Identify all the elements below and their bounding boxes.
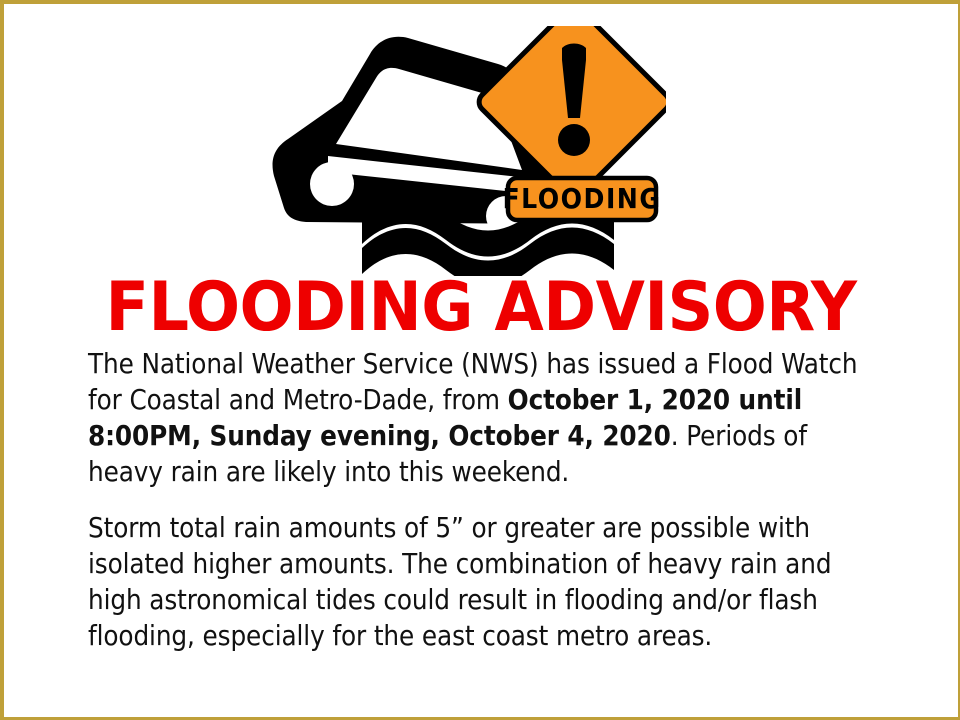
flooding-plaque-label: FLOODING [502, 182, 661, 215]
flooding-advisory-poster: FLOODING FLOODING ADVISORY The National … [0, 0, 960, 720]
advisory-body: The National Weather Service (NWS) has i… [88, 346, 888, 654]
flooded-car-warning-graphic: FLOODING [266, 26, 666, 276]
graphic-block: FLOODING [4, 4, 958, 272]
advisory-paragraph-1: The National Weather Service (NWS) has i… [88, 346, 888, 490]
exclamation-dot [558, 124, 590, 156]
page-title: FLOODING ADVISORY [0, 272, 960, 344]
advisory-paragraph-2: Storm total rain amounts of 5” or greate… [88, 510, 888, 654]
flooding-plaque: FLOODING [502, 178, 661, 220]
